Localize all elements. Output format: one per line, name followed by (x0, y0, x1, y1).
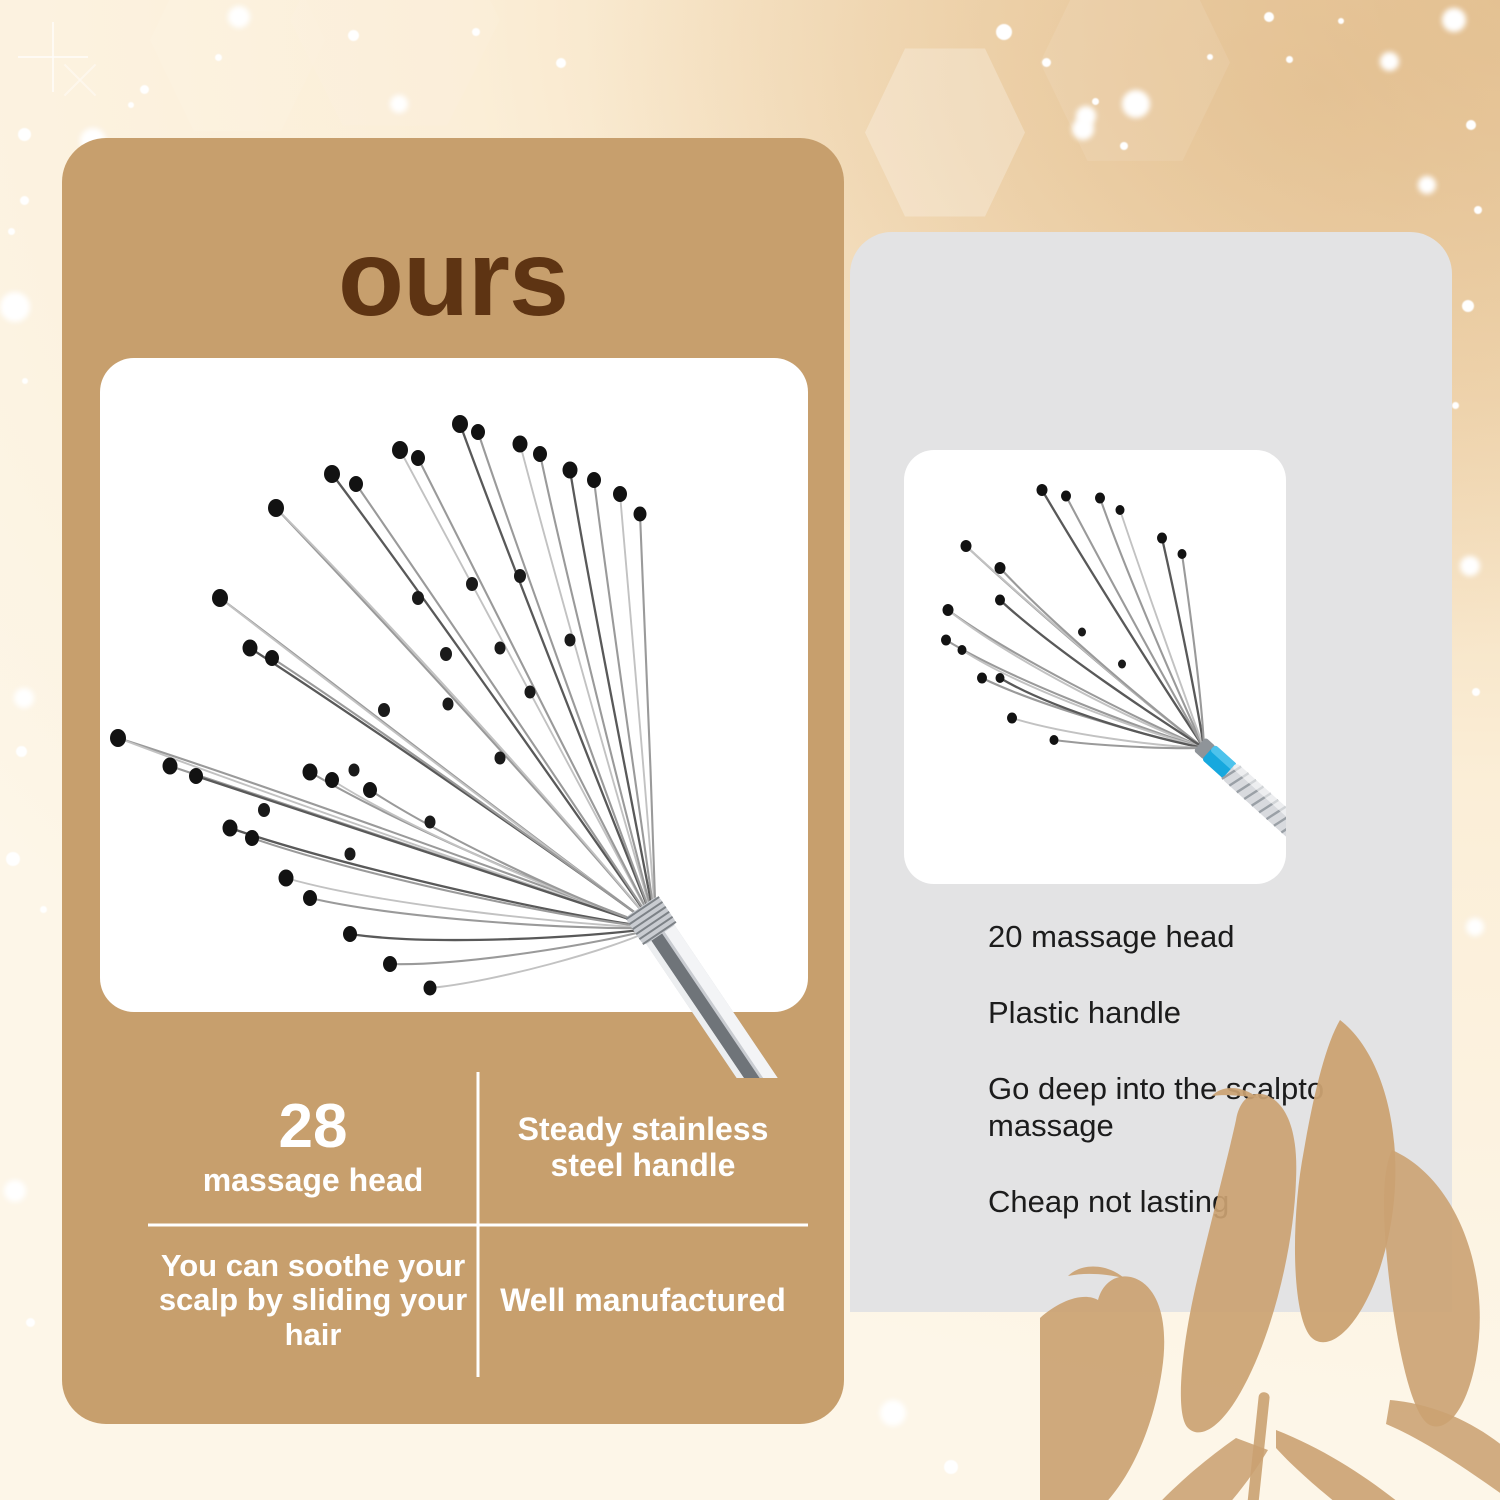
leaf-branch-illustration (1040, 1000, 1500, 1500)
bokeh-dot (1452, 402, 1459, 409)
others-list-item: 20 massage head (988, 918, 1418, 956)
bokeh-dot (1418, 176, 1436, 194)
ours-title: ours (62, 224, 844, 332)
feature-label: Steady stainless steel handle (486, 1112, 800, 1184)
bokeh-dot (1466, 120, 1476, 130)
bokeh-dot (26, 1318, 35, 1327)
bokeh-dot (215, 54, 222, 61)
bokeh-dot (228, 6, 250, 28)
bokeh-dot (1474, 206, 1482, 214)
bokeh-dot (348, 30, 359, 41)
bokeh-dot (1207, 54, 1213, 60)
bokeh-dot (1092, 98, 1099, 105)
feature-cell-handle: Steady stainless steel handle (478, 1072, 808, 1225)
feature-cell-massage-head: 28 massage head (148, 1072, 478, 1225)
feature-cell-quality: Well manufactured (478, 1225, 808, 1378)
bokeh-dot (1264, 12, 1274, 22)
bokeh-dot (1442, 8, 1466, 32)
bokeh-dot (140, 85, 149, 94)
bokeh-dot (944, 1460, 958, 1474)
bokeh-dot (14, 688, 34, 708)
bokeh-dot (1460, 556, 1480, 576)
feature-label: Well manufactured (500, 1283, 786, 1319)
bokeh-dot (22, 378, 28, 384)
bokeh-dot (1042, 58, 1051, 67)
bokeh-dot (1120, 142, 1128, 150)
feature-count: 28 (279, 1098, 348, 1157)
bokeh-dot (18, 128, 31, 141)
bokeh-dot (556, 58, 566, 68)
bokeh-dot (880, 1400, 906, 1426)
infographic-canvas: others (0, 0, 1500, 1500)
bokeh-dot (1472, 688, 1480, 696)
bokeh-dot (8, 228, 15, 235)
feature-cell-soothe: You can soothe your scalp by sliding you… (148, 1225, 478, 1378)
bokeh-dot (1338, 18, 1344, 24)
bokeh-dot (1076, 106, 1096, 126)
ours-massager-illustration (100, 358, 860, 1078)
bokeh-dot (1466, 918, 1484, 936)
bokeh-dot (4, 1180, 26, 1202)
bokeh-dot (40, 906, 47, 913)
others-product-image (904, 450, 1286, 884)
bokeh-dot (20, 196, 29, 205)
bokeh-dot (1286, 56, 1293, 63)
bokeh-dot (0, 292, 30, 322)
bokeh-dot (390, 95, 408, 113)
bokeh-dot (1462, 300, 1474, 312)
bokeh-dot (128, 102, 134, 108)
bokeh-dot (1380, 52, 1399, 71)
ours-product-image (100, 358, 808, 1012)
feature-label: massage head (203, 1163, 424, 1199)
bokeh-dot (1122, 90, 1150, 118)
ours-feature-grid: 28 massage head Steady stainless steel h… (148, 1072, 808, 1377)
bokeh-dot (472, 28, 480, 36)
others-massager-illustration (904, 450, 1286, 884)
bokeh-dot (996, 24, 1012, 40)
feature-label: You can soothe your scalp by sliding you… (156, 1249, 470, 1353)
bokeh-dot (16, 746, 27, 757)
leaf-decoration (1040, 1000, 1500, 1500)
bokeh-dot (6, 852, 20, 866)
